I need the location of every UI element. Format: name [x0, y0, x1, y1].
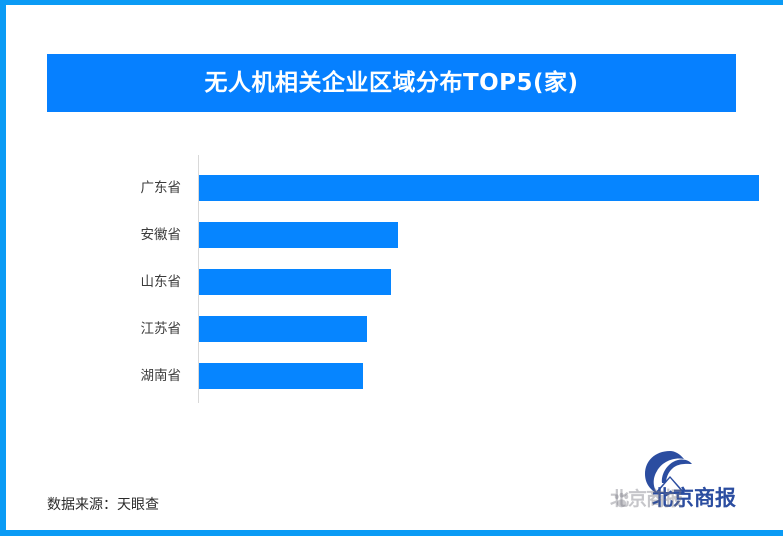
watermark-text: 北京商报: [610, 490, 742, 509]
chart-canvas: 无人机相关企业区域分布TOP5(家) 广东省安徽省山东省江苏省湖南省 数据来源：…: [6, 5, 778, 530]
bar-fill: [199, 363, 363, 389]
bar-fill: [199, 316, 367, 342]
bar-row: 安徽省: [6, 222, 778, 269]
bar-category-label: 安徽省: [61, 222, 181, 248]
infographic-root: 无人机相关企业区域分布TOP5(家) 广东省安徽省山东省江苏省湖南省 数据来源：…: [0, 0, 783, 544]
bar-fill: [199, 175, 759, 201]
bar-category-label: 江苏省: [61, 316, 181, 342]
bar-chart: 广东省安徽省山东省江苏省湖南省: [6, 150, 778, 415]
bar-track: [199, 269, 759, 295]
bar-category-label: 山东省: [61, 269, 181, 295]
bar-row: 江苏省: [6, 316, 778, 363]
brand-logo: 北京商报 北京商报: [616, 450, 736, 522]
bar-fill: [199, 269, 391, 295]
bar-fill: [199, 222, 398, 248]
bar-category-label: 广东省: [61, 175, 181, 201]
bar-row: 湖南省: [6, 363, 778, 410]
bar-row: 广东省: [6, 175, 778, 222]
bar-track: [199, 363, 759, 389]
data-source-label: 数据来源：天眼查: [47, 494, 159, 514]
bar-track: [199, 175, 759, 201]
bar-category-label: 湖南省: [61, 363, 181, 389]
bar-track: [199, 316, 759, 342]
page-title: 无人机相关企业区域分布TOP5(家): [204, 72, 578, 95]
title-banner: 无人机相关企业区域分布TOP5(家): [47, 54, 736, 112]
bar-series: 广东省安徽省山东省江苏省湖南省: [6, 175, 778, 410]
bar-row: 山东省: [6, 269, 778, 316]
bar-track: [199, 222, 759, 248]
frame-border-bottom: [0, 530, 783, 536]
